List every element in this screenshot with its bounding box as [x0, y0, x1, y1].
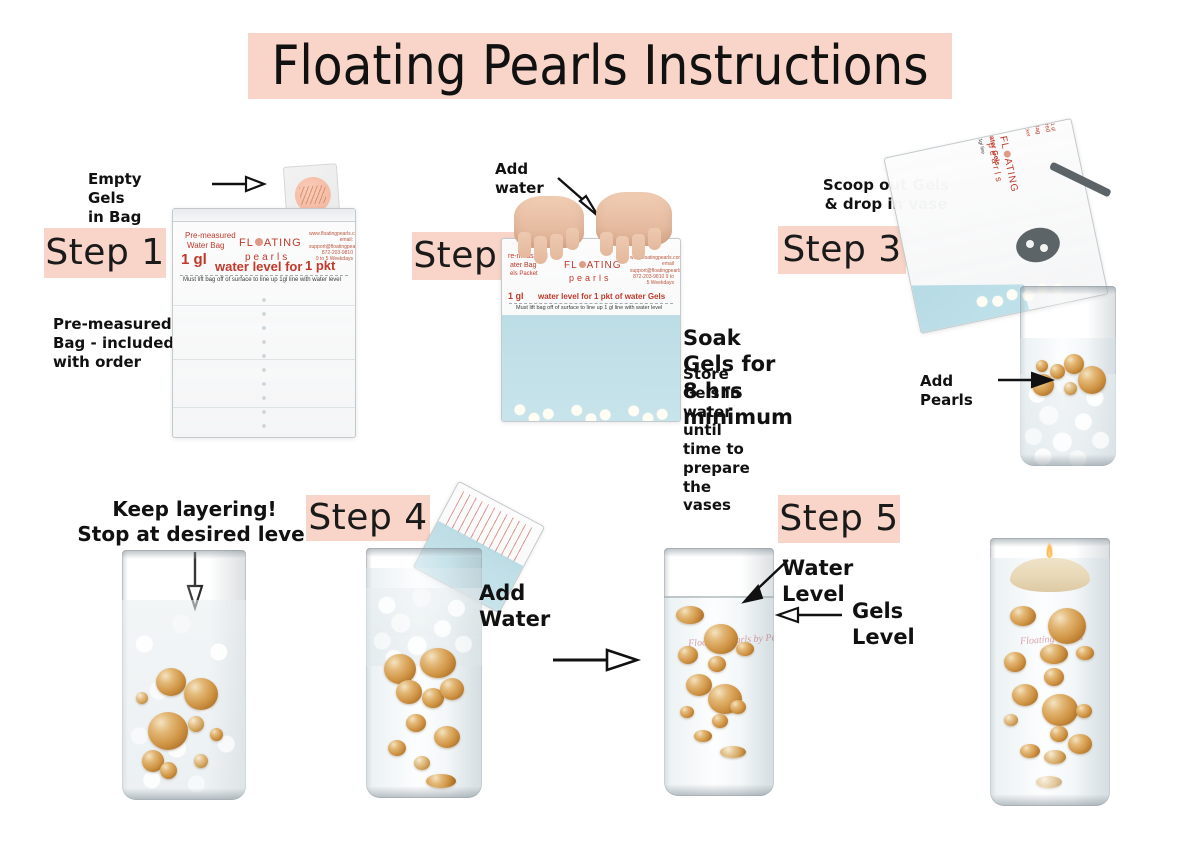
pearl — [1042, 694, 1078, 726]
bag-water-bag-label: Water Bag — [187, 241, 225, 250]
bag2-water-bag-label: ater Bag — [510, 262, 536, 269]
page-title: Floating Pearls Instructions — [248, 33, 952, 99]
bag-seal — [173, 209, 355, 222]
pearl — [712, 714, 728, 728]
transition-arrow-icon — [553, 648, 643, 672]
pearl — [736, 642, 754, 656]
pearl — [156, 668, 186, 696]
final-candle-vase: Floating Pearls — [990, 538, 1110, 806]
add-pearls-callout: Add Pearls — [920, 372, 973, 410]
bag-brand-dot-icon — [255, 238, 263, 246]
pearl — [708, 656, 726, 672]
pearl — [686, 674, 712, 696]
bag2-volume-label: 1 gl — [508, 291, 524, 301]
bag-contact-2: support@floatingpearls.com — [309, 244, 353, 250]
bag2-fill-line — [509, 303, 673, 304]
step-4-badge: Step 4 — [306, 495, 430, 541]
candle-flame-icon — [1046, 542, 1053, 558]
bag-gel-trail — [257, 293, 271, 433]
bag-volume-label: 1 gl — [181, 251, 207, 268]
water-level-callout: Water Level — [782, 555, 853, 608]
pearl — [1040, 644, 1068, 664]
pearl — [680, 706, 694, 718]
empty-gels-arrow-icon — [212, 176, 268, 192]
bag-crease-2 — [173, 359, 355, 360]
add-water-callout: Add water — [495, 160, 544, 198]
bag-crease-1 — [173, 305, 355, 306]
pearl — [420, 648, 456, 678]
pearl — [1050, 726, 1068, 742]
pearl — [1010, 606, 1036, 626]
pearl — [440, 678, 464, 700]
pearl — [136, 692, 148, 704]
bag3-water-bag-label: Water Bag — [1029, 118, 1041, 135]
pearl — [694, 730, 712, 742]
empty-gels-callout: Empty Gels in Bag — [88, 170, 142, 226]
bag2-brand-dot-icon — [579, 261, 586, 268]
pearl — [414, 756, 430, 770]
bag2-gels-packet-label: els Packet — [510, 271, 538, 277]
bag-fill-line — [180, 275, 347, 276]
step-1-badge: Step 1 — [44, 228, 166, 278]
pearl — [388, 740, 406, 756]
pearl — [1036, 776, 1062, 788]
pearl — [396, 680, 422, 704]
bag-packets-label: 1 pkt — [305, 258, 335, 273]
pearl — [1036, 360, 1048, 372]
floating-candle — [1010, 558, 1090, 592]
bag3-volume-label: 1 gl — [1049, 122, 1057, 131]
bag2-water-fill — [502, 315, 680, 421]
pearl — [1044, 668, 1064, 686]
pearl — [676, 606, 704, 624]
step-4-layered-vase — [122, 550, 246, 800]
pearl — [1078, 366, 1106, 394]
bag2-fine-print: Must lift bag off of surface to line up … — [516, 305, 662, 311]
pearl — [678, 646, 698, 664]
pearl — [160, 762, 177, 779]
bag2-gel-beads — [502, 393, 680, 421]
bag-water-level-label: water level for — [215, 259, 302, 274]
gels-level-arrow-icon — [774, 606, 844, 624]
pearl — [704, 624, 738, 654]
pearl — [148, 712, 188, 750]
pearl — [426, 774, 456, 788]
pearl — [188, 716, 204, 732]
slotted-spoon — [1010, 186, 1114, 282]
pearl — [1004, 714, 1018, 726]
left-hand — [508, 196, 588, 262]
add-water-step4-callout: Add Water — [479, 580, 550, 633]
bag-brand-top-2: ATING — [264, 237, 302, 249]
store-gels-callout: Store Gels in water until time to prepar… — [683, 365, 750, 515]
pearl — [1044, 750, 1066, 764]
bag-crease-3 — [173, 407, 355, 408]
infographic-page: Floating Pearls Instructions Empty Gels … — [0, 0, 1200, 856]
pearl — [184, 678, 218, 710]
keep-layering-callout: Keep layering! Stop at desired level — [72, 497, 317, 547]
pearl — [434, 726, 460, 748]
gel-packet-logo-icon — [299, 185, 326, 205]
step-4-vase — [366, 548, 482, 798]
step-1-bag: Pre-measured Water Bag 1 gl FLATING pear… — [172, 208, 356, 438]
bag-brand-top: FL — [239, 237, 254, 249]
bag2-water-level-label: water level for 1 pkt of water Gels — [538, 292, 665, 301]
pearl — [1048, 608, 1086, 644]
right-hand — [592, 192, 678, 262]
bag-pre-measured-label: Pre-measured — [185, 231, 236, 240]
pearl — [1004, 652, 1026, 672]
pearl — [1076, 704, 1092, 718]
pearl — [406, 714, 426, 732]
pearl — [720, 746, 746, 758]
bag2-brand-bottom: pearls — [569, 273, 622, 283]
gels-level-callout: Gels Level — [852, 598, 915, 651]
pearl — [1068, 734, 1092, 754]
pearl — [1076, 646, 1094, 660]
pearl — [1020, 744, 1040, 758]
pearl — [1012, 684, 1038, 706]
step-3-badge: Step 3 — [778, 226, 906, 274]
step-2-bag: re-measured ater Bag els Packet FLATING … — [501, 238, 681, 422]
bag3-fine-print: Must lift bag off of surface to line up … — [960, 118, 986, 155]
pearl — [730, 700, 746, 714]
pearl — [194, 754, 208, 768]
add-pearls-arrow-icon — [998, 372, 1056, 388]
bag3-gels-packet-label: for Gels Packet — [1018, 118, 1031, 137]
bag3-brand-top: FL — [997, 135, 1011, 151]
pearl — [210, 728, 223, 741]
bag-fine-print: Must lift bag off of surface to line up … — [183, 277, 341, 283]
step-5-badge: Step 5 — [778, 495, 900, 543]
pearl — [1064, 382, 1077, 395]
